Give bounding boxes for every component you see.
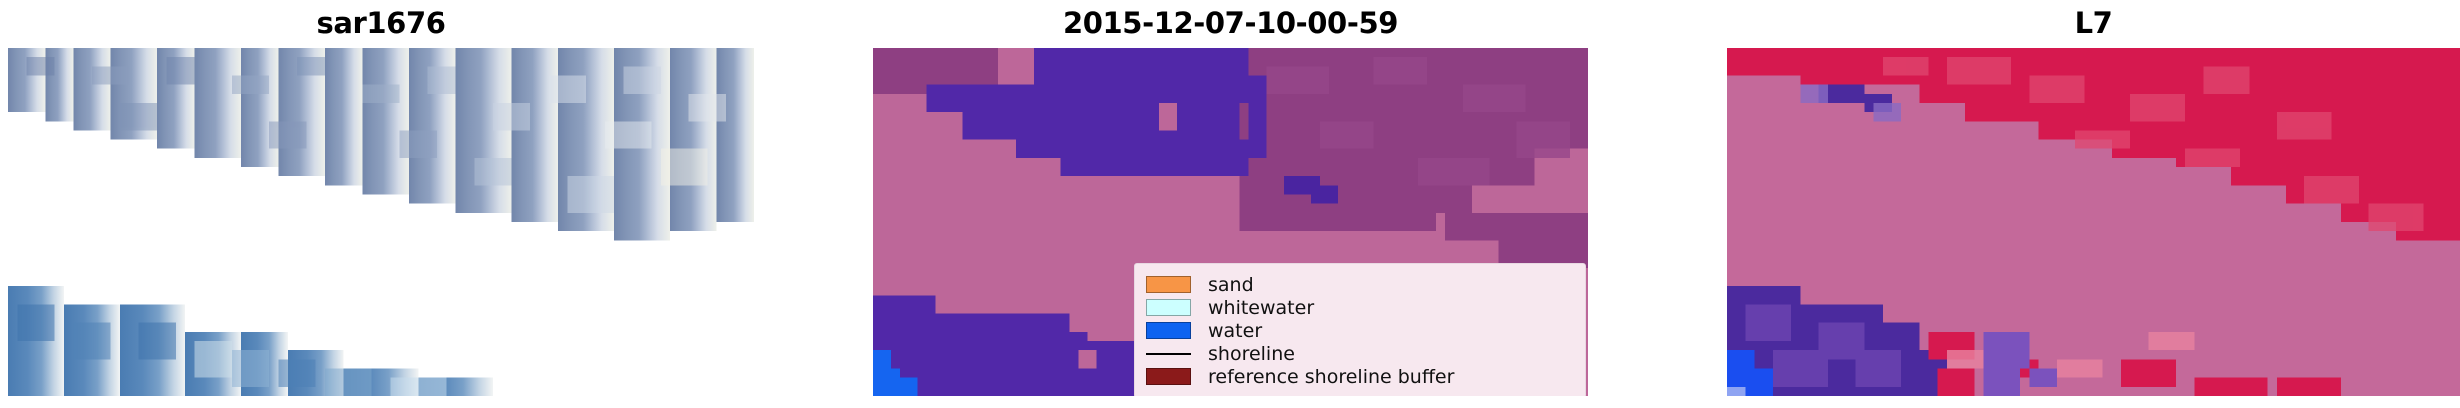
- panel-title-sar1676: sar1676: [8, 6, 754, 40]
- shoreline-line-icon: [1146, 345, 1191, 362]
- legend-item-sand: sand: [1146, 273, 1573, 296]
- legend-item-whitewater: whitewater: [1146, 296, 1573, 319]
- legend-label-shoreline: shoreline: [1208, 343, 1295, 365]
- legend-item-water: water: [1146, 319, 1573, 342]
- raster-l7: [1727, 48, 2460, 396]
- legend-label-whitewater: whitewater: [1208, 297, 1314, 319]
- axes-l7: [1727, 48, 2460, 396]
- axes-classified: sand whitewater water shoreline referenc…: [873, 48, 1588, 396]
- whitewater-swatch-icon: [1146, 299, 1191, 316]
- panel-classified: 2015-12-07-10-00-59: [873, 0, 1588, 408]
- figure-canvas: sar1676: [0, 0, 2460, 408]
- legend-item-reference-shoreline-buffer: reference shoreline buffer: [1146, 365, 1573, 388]
- panel-title-l7: L7: [1727, 6, 2460, 40]
- panel-l7: L7: [1727, 0, 2460, 408]
- raster-sar1676: [8, 48, 754, 396]
- water-swatch-icon: [1146, 322, 1191, 339]
- sand-swatch-icon: [1146, 276, 1191, 293]
- legend-label-sand: sand: [1208, 274, 1254, 296]
- legend-item-shoreline: shoreline: [1146, 342, 1573, 365]
- reference-shoreline-buffer-swatch-icon: [1146, 368, 1191, 385]
- panel-title-timestamp: 2015-12-07-10-00-59: [873, 6, 1588, 40]
- panel-sar1676: sar1676: [8, 0, 754, 408]
- legend-label-reference-shoreline-buffer: reference shoreline buffer: [1208, 366, 1454, 388]
- legend-box: sand whitewater water shoreline referenc…: [1134, 263, 1586, 396]
- legend-label-water: water: [1208, 320, 1262, 342]
- axes-sar1676: [8, 48, 754, 396]
